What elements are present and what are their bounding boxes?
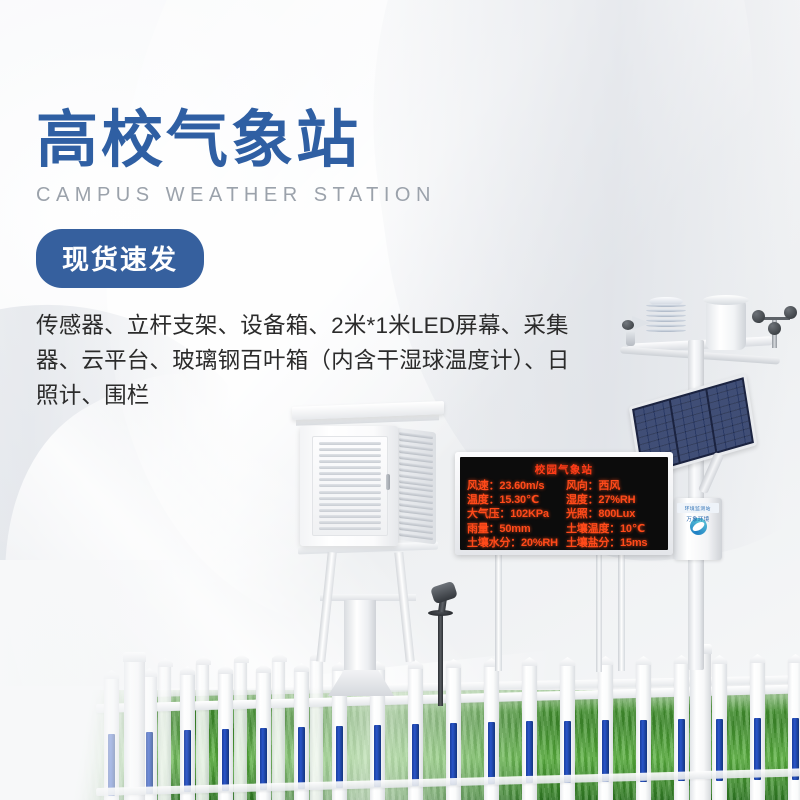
rain-gauge-icon xyxy=(706,300,746,350)
product-description: 传感器、立杆支架、设备箱、2米*1米LED屏幕、采集器、云平台、玻璃钢百叶箱（内… xyxy=(36,308,592,413)
led-value-temperature: 15.30℃ xyxy=(499,494,539,506)
led-label-humidity: 湿度： xyxy=(566,494,598,506)
led-label-pressure: 大气压： xyxy=(467,508,510,520)
page-title: 高校气象站 xyxy=(36,108,636,174)
anemometer-icon xyxy=(752,306,798,346)
radiation-shield-icon xyxy=(646,303,686,333)
led-title: 校园气象站 xyxy=(467,462,661,477)
led-value-wind-speed: 23.60m/s xyxy=(499,480,544,492)
led-value-humidity: 27%RH xyxy=(598,494,635,506)
poster-canvas: 环境监测站 万象环境 校园气象站 风速：23.60m/s 风向：西风 温度：15… xyxy=(0,0,800,800)
led-reading-soil-salinity: 土壤盐分：15ms xyxy=(566,536,661,550)
page-subtitle: CAMPUS WEATHER STATION xyxy=(36,184,636,207)
led-reading-soil-temperature: 土壤温度：10℃ xyxy=(566,522,661,536)
led-display-board: 校园气象站 风速：23.60m/s 风向：西风 温度：15.30℃ 湿度：27%… xyxy=(455,452,673,555)
led-label-wind-direction: 风向： xyxy=(566,480,598,492)
led-reading-pressure: 大气压：102KPa xyxy=(467,507,562,521)
led-label-rainfall: 雨量： xyxy=(467,523,499,535)
led-reading-wind-direction: 风向：西风 xyxy=(566,479,661,493)
led-value-illuminance: 800Lux xyxy=(598,508,635,520)
led-reading-temperature: 温度：15.30℃ xyxy=(467,493,562,507)
stevenson-screen-louver-side xyxy=(396,428,436,545)
led-label-soil-temperature: 土壤温度： xyxy=(566,523,620,535)
led-value-rainfall: 50mm xyxy=(499,523,530,535)
led-reading-wind-speed: 风速：23.60m/s xyxy=(467,479,562,493)
led-reading-humidity: 湿度：27%RH xyxy=(566,493,661,507)
led-label-temperature: 温度： xyxy=(467,494,499,506)
hero-text-block: 高校气象站 CAMPUS WEATHER STATION 现货速发 传感器、立杆… xyxy=(36,108,636,413)
led-label-soil-moisture: 土壤水分： xyxy=(467,537,521,549)
led-screen: 校园气象站 风速：23.60m/s 风向：西风 温度：15.30℃ 湿度：27%… xyxy=(460,457,668,550)
control-cabinet: 环境监测站 万象环境 xyxy=(674,498,722,560)
stevenson-screen-door xyxy=(312,436,388,536)
led-label-illuminance: 光照： xyxy=(566,508,598,520)
led-label-soil-salinity: 土壤盐分： xyxy=(566,537,620,549)
led-readings-grid: 风速：23.60m/s 风向：西风 温度：15.30℃ 湿度：27%RH 大气压… xyxy=(467,479,661,550)
led-support-leg-right xyxy=(618,553,625,671)
led-value-wind-direction: 西风 xyxy=(598,480,620,492)
cabinet-brand-label: 万象环境 xyxy=(674,515,722,523)
stevenson-screen-body xyxy=(300,426,398,546)
led-value-soil-moisture: 20%RH xyxy=(521,537,558,549)
led-reading-soil-moisture: 土壤水分：20%RH xyxy=(467,536,562,550)
stock-badge: 现货速发 xyxy=(36,229,204,288)
led-reading-illuminance: 光照：800Lux xyxy=(566,507,661,521)
led-value-soil-salinity: 15ms xyxy=(620,537,647,549)
cabinet-sign: 环境监测站 xyxy=(677,503,719,513)
led-support-leg-left xyxy=(495,553,502,671)
led-value-soil-temperature: 10℃ xyxy=(620,523,645,535)
led-label-wind-speed: 风速： xyxy=(467,480,499,492)
stevenson-screen-handle xyxy=(386,474,390,490)
stevenson-screen xyxy=(300,418,430,550)
led-reading-rainfall: 雨量：50mm xyxy=(467,522,562,536)
led-value-pressure: 102KPa xyxy=(510,508,549,520)
cabinet-sign-label: 环境监测站 xyxy=(685,505,711,512)
